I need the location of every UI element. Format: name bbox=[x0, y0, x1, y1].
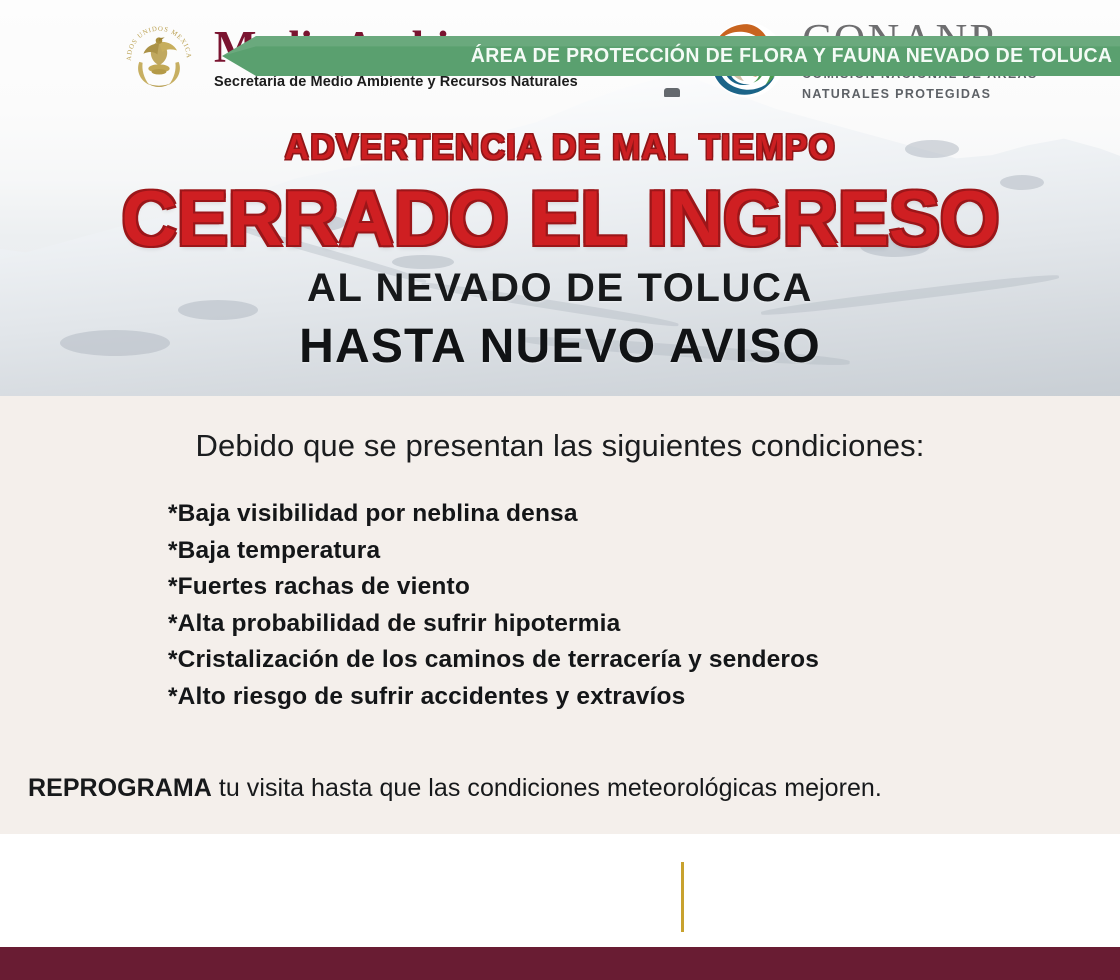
bottom-accent-bar bbox=[0, 947, 1120, 980]
rock-detail bbox=[300, 215, 346, 231]
list-item: *Fuertes rachas de viento bbox=[168, 569, 1068, 606]
conditions-list: *Baja visibilidad por neblina densa *Baj… bbox=[168, 496, 1068, 715]
rock-detail bbox=[178, 300, 258, 320]
rock-detail bbox=[60, 330, 170, 356]
rock-detail bbox=[905, 140, 959, 158]
conditions-panel: Debido que se presentan las siguientes c… bbox=[0, 396, 1120, 834]
list-item: *Baja temperatura bbox=[168, 533, 1068, 570]
closing-rest: tu visita hasta que las condiciones mete… bbox=[212, 774, 882, 802]
rock-detail bbox=[392, 255, 454, 269]
semarnat-subtitle: Secretaría de Medio Ambiente y Recursos … bbox=[214, 74, 578, 90]
footer-logos bbox=[0, 834, 1120, 947]
ribbon-label: ÁREA DE PROTECCIÓN DE FLORA Y FAUNA NEVA… bbox=[470, 44, 1112, 68]
list-item: *Alto riesgo de sufrir accidentes y extr… bbox=[168, 679, 1068, 716]
rock-detail bbox=[860, 235, 930, 257]
protected-area-ribbon: ÁREA DE PROTECCIÓN DE FLORA Y FAUNA NEVA… bbox=[222, 36, 1120, 76]
closing-emphasis: REPROGRAMA bbox=[28, 774, 212, 802]
list-item: *Cristalización de los caminos de terrac… bbox=[168, 642, 1068, 679]
conanp-subtitle-line-2: NATURALES PROTEGIDAS bbox=[802, 87, 1038, 102]
summit-rock bbox=[664, 88, 680, 97]
list-item: *Alta probabilidad de sufrir hipotermia bbox=[168, 606, 1068, 643]
list-item: *Baja visibilidad por neblina densa bbox=[168, 496, 1068, 533]
closing-statement: REPROGRAMA tu visita hasta que las condi… bbox=[28, 774, 1098, 803]
poster-root: ÁREA DE PROTECCIÓN DE FLORA Y FAUNA NEVA… bbox=[0, 0, 1120, 980]
logo-divider bbox=[681, 862, 684, 932]
conditions-intro: Debido que se presentan las siguientes c… bbox=[0, 428, 1120, 464]
estados-unidos-mexicanos-seal-icon: ESTADOS UNIDOS MEXICANOS bbox=[118, 16, 200, 98]
rock-detail bbox=[1000, 175, 1044, 190]
